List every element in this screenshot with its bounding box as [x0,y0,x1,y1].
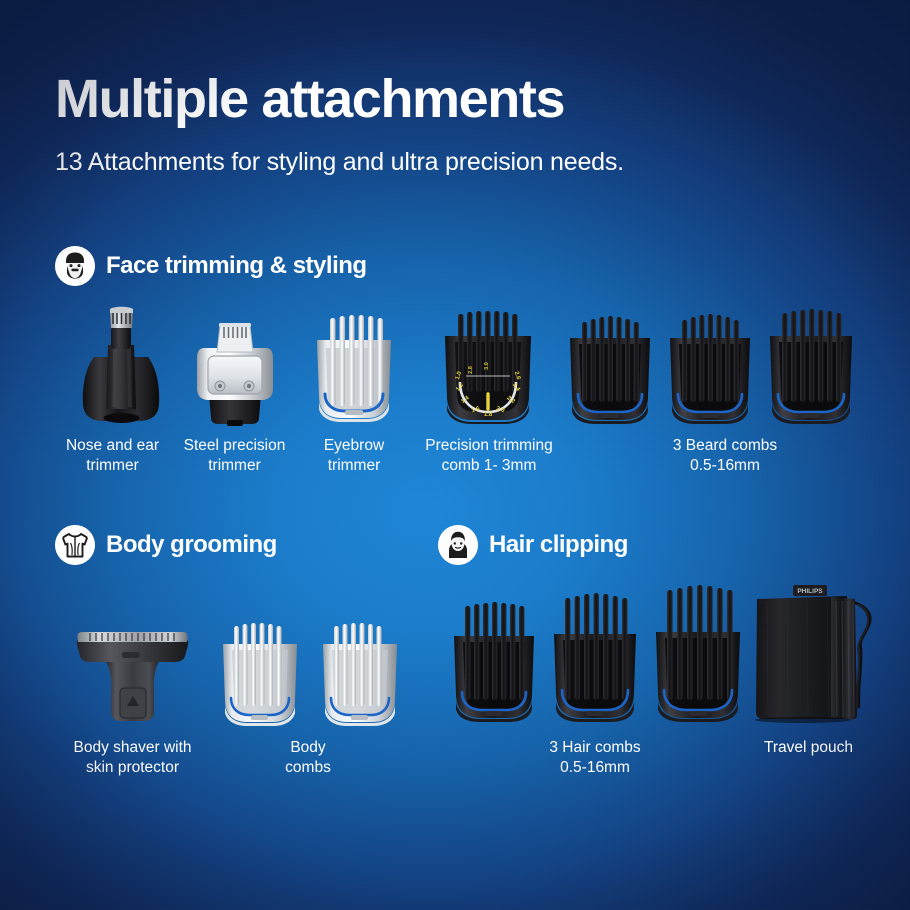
product-beard-comb-3 [763,308,859,426]
caption-travel-pouch: Travel pouch [736,738,881,758]
section-header-hair: Hair clipping [438,525,628,565]
caption-steel-precision-trimmer: Steel precision trimmer [168,436,301,477]
product-beard-comb-2 [663,312,757,426]
section-label-face: Face trimming & styling [106,252,367,280]
section-label-body: Body grooming [106,531,277,559]
product-body-comb-1 [216,618,304,730]
torso-icon [55,525,95,565]
product-steel-precision-trimmer [187,308,283,426]
product-hair-comb-3 [649,584,747,726]
product-body-shaver [70,612,195,724]
product-eyebrow-trimmer [309,310,399,425]
product-hair-comb-1 [447,600,541,726]
dial-mark-b: 3.0 [484,362,490,370]
head-icon [438,525,478,565]
page-title: Multiple attachments [55,72,564,126]
product-feature-graphic: Multiple attachments 13 Attachments for … [0,0,910,910]
pouch-brand-label: PHILIPS [797,588,823,595]
caption-precision-trimming-comb: Precision trimming comb 1- 3mm [413,436,565,477]
page-subtitle: 13 Attachments for styling and ultra pre… [55,148,624,177]
bearded-face-icon [55,246,95,286]
product-beard-comb-1 [563,312,657,426]
dial-tick-5: 1.8 [484,412,493,418]
product-nose-ear-trimmer [72,305,172,425]
caption-beard-combs: 3 Beard combs 0.5-16mm [630,436,820,477]
caption-nose-ear-trimmer: Nose and ear trimmer [45,436,180,477]
caption-eyebrow-trimmer: Eyebrow trimmer [290,436,418,477]
caption-hair-combs: 3 Hair combs 0.5-16mm [500,738,690,779]
product-travel-pouch: PHILIPS [743,583,883,723]
product-precision-trimming-comb: 1.0 1.2 1.4 1.6 1.8 2.0 2.2 2.4 2.6 2.8 … [436,308,540,426]
section-header-body: Body grooming [55,525,277,565]
section-label-hair: Hair clipping [489,531,628,559]
caption-body-combs: Body combs [248,738,368,779]
product-body-comb-2 [316,618,404,730]
section-header-face: Face trimming & styling [55,246,367,286]
dial-mark-a: 2.8 [468,366,474,374]
caption-body-shaver: Body shaver with skin protector [50,738,215,779]
product-hair-comb-2 [547,592,643,726]
